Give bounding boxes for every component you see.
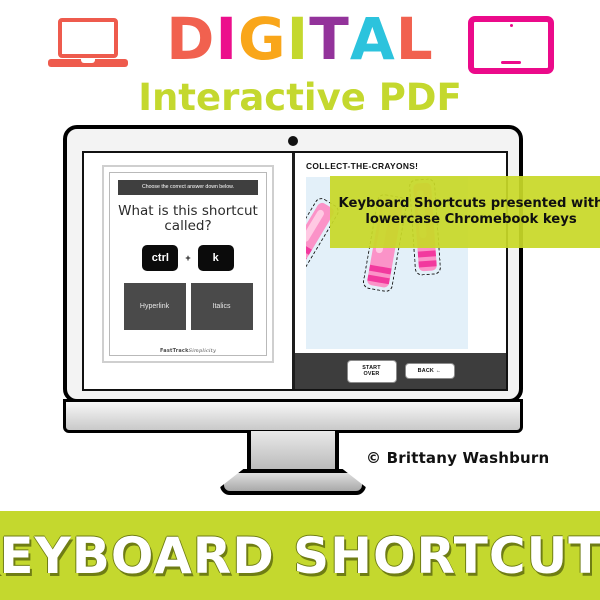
footer-banner: KEYBOARD SHORTCUTS [0,511,600,600]
crayon-band [369,265,392,275]
page-title-digital: DIGITAL [0,8,600,70]
slide-left[interactable]: Choose the correct answer down below. Wh… [84,153,295,389]
callout-text: Keyboard Shortcuts presented with lowerc… [330,196,600,228]
key-cap-k: k [198,245,234,271]
back-button-label: BACK ← [413,368,447,375]
digital-letter-1: D [166,8,215,70]
back-button[interactable]: BACK ← [405,363,455,380]
start-over-line2: OVER [355,371,389,378]
monitor-body: Choose the correct answer down below. Wh… [63,125,523,403]
monitor-chin [63,399,523,433]
brand-watermark: FastTrackSimplicity [104,348,272,354]
worksheet-inner: Choose the correct answer down below. Wh… [109,172,267,356]
digital-letter-4: I [287,8,310,70]
page-subtitle: Interactive PDF [0,78,600,118]
callout-banner: Keyboard Shortcuts presented with lowerc… [330,176,600,248]
digital-letter-5: T [309,8,350,70]
digital-letter-2: I [215,8,238,70]
key-cap-ctrl: ctrl [142,245,178,271]
footer-title: KEYBOARD SHORTCUTS [0,527,600,585]
brand-watermark-bold: FastTrack [160,348,189,354]
answer-choices-row: Hyperlink Italics [118,283,258,330]
monitor-foot [220,469,366,495]
key-combo-row: ctrl + k [118,245,258,271]
crayon-band [418,250,436,257]
prompt-bar: Choose the correct answer down below. [118,180,258,195]
digital-letter-6: A [350,8,396,70]
start-over-button[interactable]: START OVER [347,360,397,383]
question-text: What is this shortcut called? [118,204,258,234]
worksheet-card: Choose the correct answer down below. Wh… [102,165,274,363]
collect-the-crayons-title: COLLECT-THE-CRAYONS! [306,161,418,171]
digital-letter-3: G [238,8,287,70]
key-plus-separator: + [185,253,190,263]
digital-letter-7: L [396,8,434,70]
webcam-icon [288,136,298,146]
answer-option-hyperlink[interactable]: Hyperlink [124,283,186,330]
answer-option-italics[interactable]: Italics [191,283,253,330]
slide-nav-bar: START OVER BACK ← [295,353,506,389]
monitor-neck [247,431,339,475]
crayon-band [418,260,436,267]
copyright-text: © Brittany Washburn [366,449,549,467]
brand-watermark-script: Simplicity [189,348,216,354]
crayon-band [367,275,390,285]
header-banner: DIGITAL Interactive PDF [0,0,600,125]
